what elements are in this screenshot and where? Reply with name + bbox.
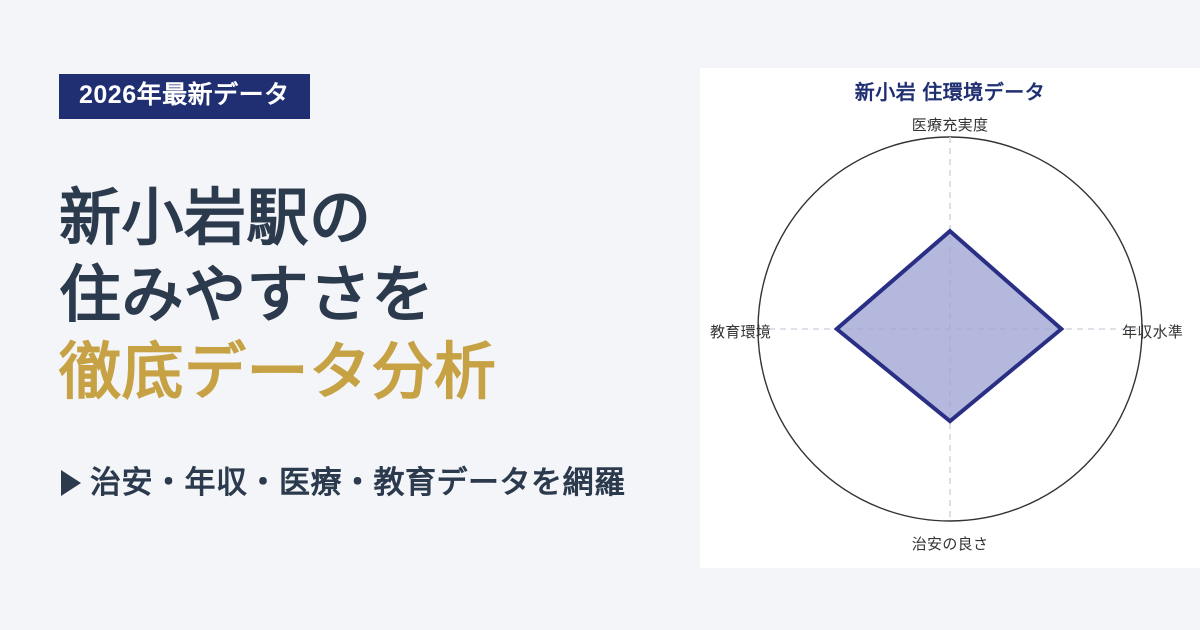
hero-text-column: 2026年最新データ 新小岩駅の 住みやすさを 徹底データ分析 治安・年収・医療…	[59, 0, 699, 630]
status-badge: 2026年最新データ	[59, 74, 310, 119]
subtitle: 治安・年収・医療・教育データを網羅	[61, 464, 626, 501]
headline-line-3: 徹底データ分析	[59, 335, 699, 412]
right-triangle-icon	[61, 470, 81, 496]
radar-chart-svg	[700, 68, 1200, 568]
radar-axis-label-bottom: 治安の良さ	[912, 533, 989, 554]
radar-axis-label-left: 教育環境	[710, 321, 771, 342]
poster-canvas: 2026年最新データ 新小岩駅の 住みやすさを 徹底データ分析 治安・年収・医療…	[0, 0, 1200, 630]
radar-axis-label-top: 医療充実度	[912, 114, 989, 135]
radar-chart-panel: 新小岩 住環境データ 医療充実度 年収水準 治安の良さ 教育環境	[700, 68, 1200, 568]
headline-line-1: 新小岩駅の	[59, 181, 699, 258]
page-title: 新小岩駅の 住みやすさを 徹底データ分析	[59, 181, 699, 412]
subtitle-label: 治安・年収・医療・教育データを網羅	[90, 464, 626, 501]
radar-data-polygon	[837, 231, 1062, 421]
headline-line-2: 住みやすさを	[59, 258, 699, 335]
radar-axis-label-right: 年収水準	[1122, 321, 1183, 342]
